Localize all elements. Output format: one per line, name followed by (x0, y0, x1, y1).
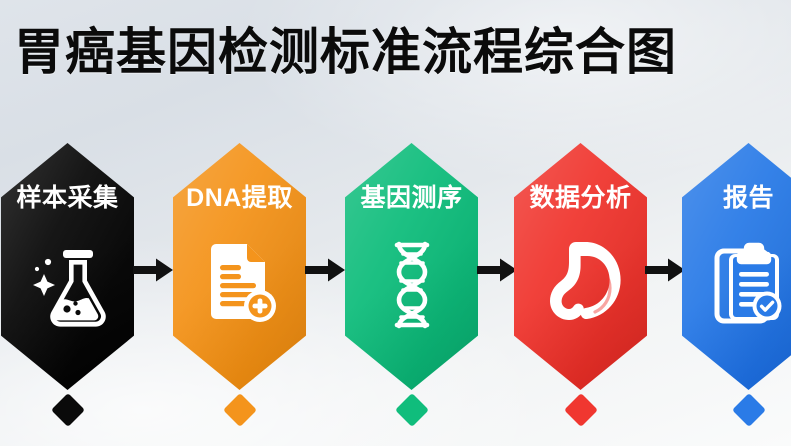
process-flow: 样本采集 (0, 143, 791, 425)
flow-step-report[interactable]: 报告 (682, 143, 791, 390)
clipboard-check-icon (707, 238, 791, 330)
step-label: 基因测序 (345, 183, 478, 213)
page-title: 胃癌基因检测标准流程综合图 (14, 23, 677, 81)
dna-helix-icon (370, 238, 454, 330)
step-diamond (564, 393, 598, 427)
step-diamond (223, 393, 257, 427)
arrow-right-icon (645, 257, 685, 283)
step-diamond (395, 393, 429, 427)
infographic-canvas: 胃癌基因检测标准流程综合图 样本采集 (0, 0, 791, 446)
arrow-right-icon (133, 257, 173, 283)
arrow-right-icon (305, 257, 345, 283)
step-label: 数据分析 (514, 183, 647, 213)
flask-icon (26, 238, 110, 330)
flow-step-sample-collection[interactable]: 样本采集 (1, 143, 134, 390)
arrow-right-icon (477, 257, 517, 283)
step-diamond (732, 393, 766, 427)
step-label: 样本采集 (1, 183, 134, 213)
flow-step-dna-extraction[interactable]: DNA提取 (173, 143, 306, 390)
document-plus-icon (198, 238, 282, 330)
flow-step-gene-sequencing[interactable]: 基因测序 (345, 143, 478, 390)
step-diamond (51, 393, 85, 427)
flow-step-data-analysis[interactable]: 数据分析 (514, 143, 647, 390)
step-label: DNA提取 (173, 183, 306, 213)
step-label: 报告 (682, 183, 791, 213)
stomach-icon (539, 238, 623, 330)
